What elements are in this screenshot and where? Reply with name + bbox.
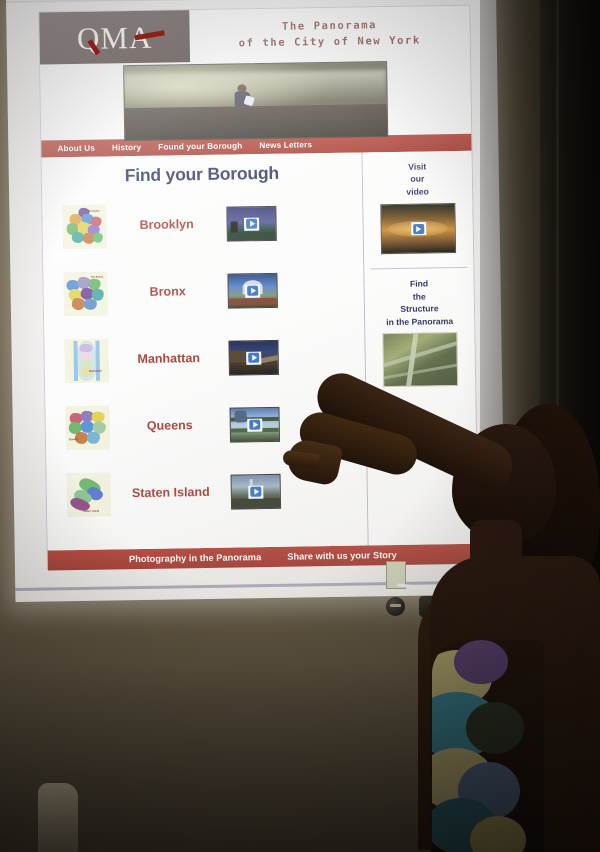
nav-item-about-us[interactable]: About Us [57, 144, 95, 154]
page-body: Find your Borough [42, 151, 478, 551]
borough-name-brooklyn[interactable]: Brooklyn [107, 218, 227, 233]
footer-item-share-story[interactable]: Share with us your Story [287, 550, 397, 562]
sidebar-visit-video-label: Visit our video [363, 151, 473, 199]
borough-row-manhattan[interactable]: Manhattan Manhattan [44, 322, 365, 394]
borough-name-staten-island[interactable]: Staten Island [111, 486, 231, 501]
page-title: Find your Borough [42, 161, 362, 187]
borough-name-bronx[interactable]: Bronx [108, 285, 228, 300]
qma-logo[interactable]: QMA [39, 10, 190, 64]
map-thumbnail-queens[interactable]: Queens [65, 405, 110, 450]
map-label-staten-island: Staten Island [83, 509, 99, 512]
footer-item-photography[interactable]: Photography in the Panorama [129, 552, 261, 564]
site-header: QMA The Panorama of the City of New York [39, 6, 470, 65]
sidebar: Visit our video Find the Stru [363, 151, 478, 546]
borough-name-queens[interactable]: Queens [110, 419, 230, 434]
borough-row-staten-island[interactable]: Staten Island Staten Island [46, 456, 367, 528]
map-thumbnail-brooklyn[interactable]: Brooklyn [62, 204, 107, 249]
map-label-queens: Queens [69, 437, 79, 440]
map-thumbnail-bronx[interactable]: The Bronx [63, 271, 108, 316]
nav-item-newsletters[interactable]: News Letters [259, 140, 312, 150]
sidebar-aerial-photo[interactable] [382, 332, 458, 387]
borough-row-bronx[interactable]: The Bronx Bronx [43, 255, 364, 327]
site-title: The Panorama of the City of New York [189, 6, 470, 62]
nav-item-history[interactable]: History [112, 143, 141, 152]
borough-row-brooklyn[interactable]: Brooklyn Brooklyn [42, 188, 363, 260]
borough-name-manhattan[interactable]: Manhattan [109, 352, 229, 367]
nav-item-find-borough[interactable]: Found your Borough [158, 141, 242, 151]
main-content: Find your Borough [42, 152, 369, 550]
play-button-manhattan-icon[interactable] [246, 351, 261, 364]
video-thumbnail-manhattan[interactable] [228, 340, 279, 376]
map-thumbnail-manhattan[interactable]: Manhattan [64, 338, 109, 383]
banner-foreground [125, 104, 387, 140]
video-thumbnail-brooklyn[interactable] [226, 206, 277, 242]
visit-line-3: video [367, 185, 468, 199]
room-scene: QMA The Panorama of the City of New York [0, 0, 600, 852]
sidebar-find-structure-label: Find the Structure in the Panorama [364, 268, 474, 329]
map-label-manhattan: Manhattan [89, 369, 102, 372]
banner-image [123, 61, 388, 141]
video-thumbnail-staten-island[interactable] [231, 474, 282, 510]
map-thumbnail-staten-island[interactable]: Staten Island [66, 472, 111, 517]
wall-shadow-bottom [0, 662, 600, 852]
borough-row-queens[interactable]: Queens Queens [45, 389, 366, 461]
website-page: QMA The Panorama of the City of New York [38, 5, 479, 570]
map-label-brooklyn: Brooklyn [88, 209, 99, 212]
play-button-brooklyn-icon[interactable] [244, 217, 259, 230]
square-box [419, 596, 440, 617]
banner-haze [124, 70, 386, 104]
sidebar-video-thumbnail[interactable] [380, 203, 456, 254]
projection-screen: QMA The Panorama of the City of New York [10, 0, 500, 606]
play-button-queens-icon[interactable] [247, 418, 262, 431]
play-button-sidebar-icon[interactable] [411, 222, 426, 235]
structure-line-4: in the Panorama [369, 315, 470, 329]
knob-slot-icon [390, 604, 401, 607]
banner-area [40, 58, 471, 141]
site-title-line1: The Panorama [282, 17, 377, 35]
banner-figure [234, 84, 250, 110]
site-title-line2: of the City of New York [239, 33, 421, 52]
map-label-bronx: The Bronx [90, 275, 103, 278]
play-button-staten-island-icon[interactable] [248, 485, 263, 498]
video-thumbnail-queens[interactable] [229, 407, 280, 443]
play-button-bronx-icon[interactable] [245, 284, 260, 297]
video-thumbnail-bronx[interactable] [227, 273, 278, 309]
